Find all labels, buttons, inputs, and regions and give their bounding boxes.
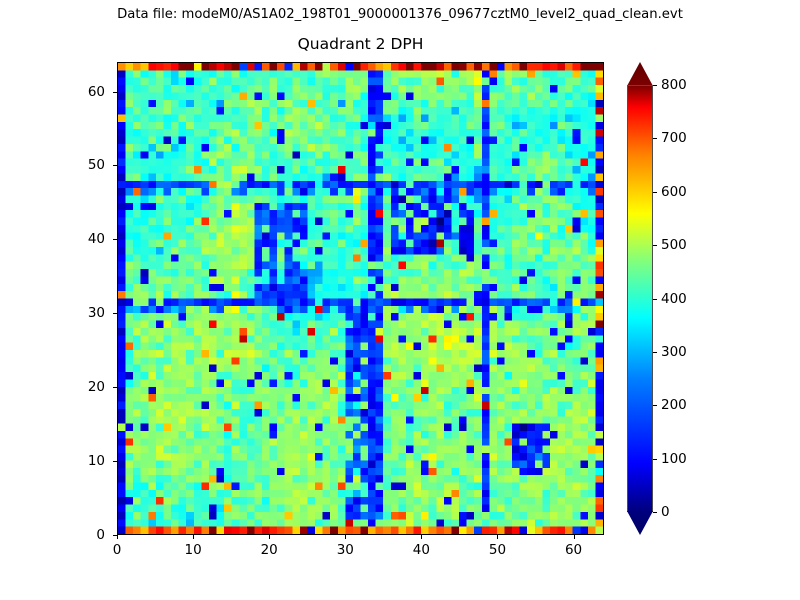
y-tick-mark bbox=[113, 461, 117, 462]
colorbar-tick-label: 800 bbox=[661, 78, 687, 92]
y-tick-mark bbox=[113, 165, 117, 166]
x-tick-mark bbox=[497, 535, 498, 539]
x-tick-label: 20 bbox=[249, 543, 289, 557]
plot-title: Quadrant 2 DPH bbox=[117, 34, 604, 54]
y-tick-mark bbox=[113, 535, 117, 536]
colorbar-tick-mark bbox=[653, 245, 657, 246]
colorbar-tick-label: 0 bbox=[661, 505, 670, 519]
matplotlib-figure: Data file: modeM0/AS1A02_198T01_90000013… bbox=[0, 0, 800, 600]
colorbar-tick-label: 200 bbox=[661, 398, 687, 412]
colorbar-tick-label: 100 bbox=[661, 452, 687, 466]
colorbar-tick-mark bbox=[653, 352, 657, 353]
colorbar-tick-mark bbox=[653, 299, 657, 300]
x-tick-label: 30 bbox=[325, 543, 365, 557]
colorbar-tick-mark bbox=[653, 405, 657, 406]
colorbar-tick-mark bbox=[653, 85, 657, 86]
x-tick-label: 10 bbox=[173, 543, 213, 557]
x-tick-mark bbox=[574, 535, 575, 539]
detector-pixel-heatmap[interactable] bbox=[118, 63, 603, 534]
x-tick-mark bbox=[117, 535, 118, 539]
y-tick-label: 50 bbox=[65, 158, 105, 172]
x-tick-mark bbox=[421, 535, 422, 539]
figure-suptitle: Data file: modeM0/AS1A02_198T01_90000013… bbox=[0, 6, 800, 24]
y-tick-label: 60 bbox=[65, 85, 105, 99]
colorbar-extend-min-arrow-icon bbox=[627, 511, 653, 535]
y-tick-mark bbox=[113, 92, 117, 93]
colorbar-tick-mark bbox=[653, 512, 657, 513]
x-tick-label: 40 bbox=[401, 543, 441, 557]
y-tick-mark bbox=[113, 239, 117, 240]
x-tick-mark bbox=[345, 535, 346, 539]
heatmap-axes[interactable] bbox=[117, 62, 604, 535]
y-tick-label: 20 bbox=[65, 380, 105, 394]
y-tick-label: 0 bbox=[65, 528, 105, 542]
colorbar-tick-label: 600 bbox=[661, 185, 687, 199]
y-tick-mark bbox=[113, 313, 117, 314]
y-tick-label: 30 bbox=[65, 306, 105, 320]
colorbar-gradient[interactable] bbox=[627, 85, 653, 512]
colorbar[interactable]: 0100200300400500600700800 bbox=[627, 62, 653, 535]
x-tick-label: 50 bbox=[477, 543, 517, 557]
colorbar-tick-label: 400 bbox=[661, 292, 687, 306]
colorbar-tick-mark bbox=[653, 459, 657, 460]
y-tick-label: 40 bbox=[65, 232, 105, 246]
colorbar-tick-label: 300 bbox=[661, 345, 687, 359]
y-tick-mark bbox=[113, 387, 117, 388]
x-tick-mark bbox=[193, 535, 194, 539]
x-tick-label: 0 bbox=[97, 543, 137, 557]
colorbar-extend-max-arrow-icon bbox=[627, 62, 653, 86]
colorbar-tick-mark bbox=[653, 138, 657, 139]
colorbar-tick-label: 700 bbox=[661, 131, 687, 145]
x-tick-mark bbox=[269, 535, 270, 539]
x-tick-label: 60 bbox=[554, 543, 594, 557]
colorbar-tick-label: 500 bbox=[661, 238, 687, 252]
y-tick-label: 10 bbox=[65, 454, 105, 468]
colorbar-tick-mark bbox=[653, 192, 657, 193]
